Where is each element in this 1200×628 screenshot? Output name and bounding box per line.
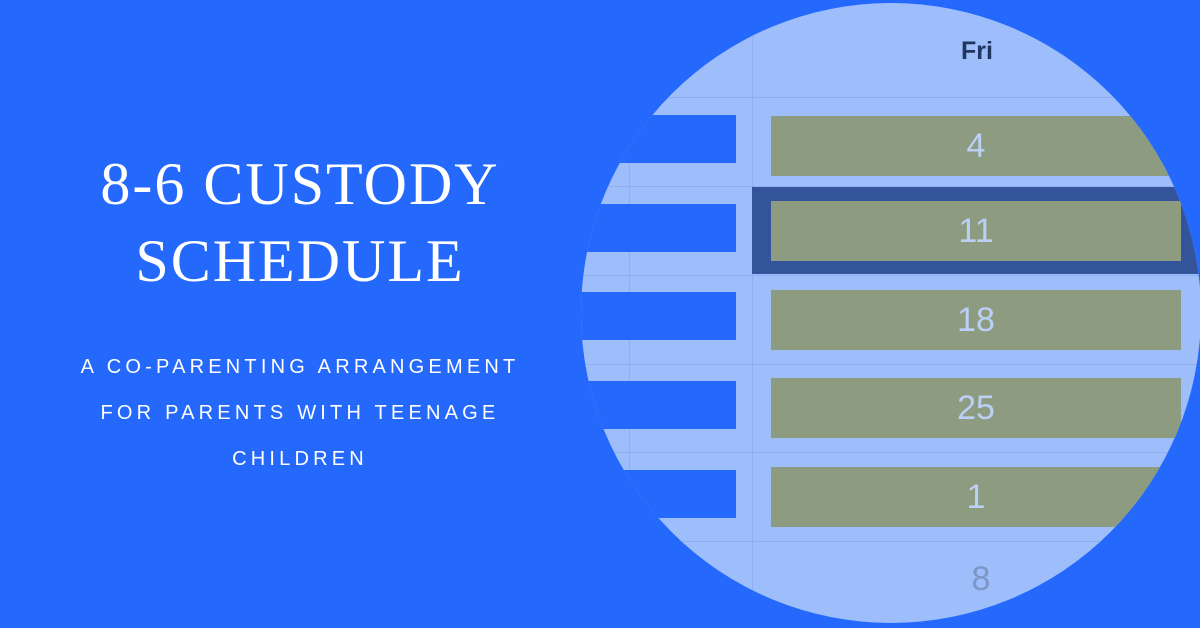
adjacent-day-event-block xyxy=(592,470,736,518)
hero-text-block: 8-6 Custody Schedule A Co-Parenting Arra… xyxy=(0,0,600,628)
grid-line-horizontal xyxy=(581,452,1200,453)
day-of-week-header-fri: Fri xyxy=(961,37,993,66)
grid-line-horizontal xyxy=(581,275,1200,276)
calendar-event-date: 18 xyxy=(957,303,995,337)
calendar-event-chip[interactable]: 1 xyxy=(771,467,1181,527)
calendar-event-chip[interactable]: 25 xyxy=(771,378,1181,438)
calendar-date-number[interactable]: 8 xyxy=(921,560,1041,599)
calendar-artwork: Fri 4 11 18 25 1 8 xyxy=(581,3,1200,623)
calendar-event-date: 4 xyxy=(967,129,986,163)
calendar-event-date: 1 xyxy=(967,480,986,514)
hero-subtitle-line-1: A Co-Parenting Arrangement xyxy=(40,345,560,391)
adjacent-day-event-block xyxy=(581,292,736,340)
adjacent-day-event-block xyxy=(581,204,736,252)
adjacent-day-event-block xyxy=(581,115,736,163)
calendar-event-date: 25 xyxy=(957,391,995,425)
hero-subtitle: A Co-Parenting Arrangement for Parents w… xyxy=(40,345,560,482)
calendar-event-date: 11 xyxy=(958,214,993,248)
hero-subtitle-line-3: Children xyxy=(40,437,560,483)
grid-line-horizontal xyxy=(581,97,1200,98)
banner: 8-6 Custody Schedule A Co-Parenting Arra… xyxy=(0,0,1200,628)
calendar-event-chip[interactable]: 11 xyxy=(771,201,1181,261)
calendar-event-chip[interactable]: 4 xyxy=(771,116,1181,176)
grid-line-vertical xyxy=(752,3,753,623)
page-title: 8-6 Custody Schedule xyxy=(40,146,560,300)
calendar-circle-mask: Fri 4 11 18 25 1 8 xyxy=(581,3,1200,623)
grid-line-horizontal xyxy=(581,541,1200,542)
hero-subtitle-line-2: for Parents with Teenage xyxy=(40,391,560,437)
adjacent-day-event-block xyxy=(581,381,736,429)
grid-line-horizontal xyxy=(581,364,1200,365)
calendar-event-chip[interactable]: 18 xyxy=(771,290,1181,350)
